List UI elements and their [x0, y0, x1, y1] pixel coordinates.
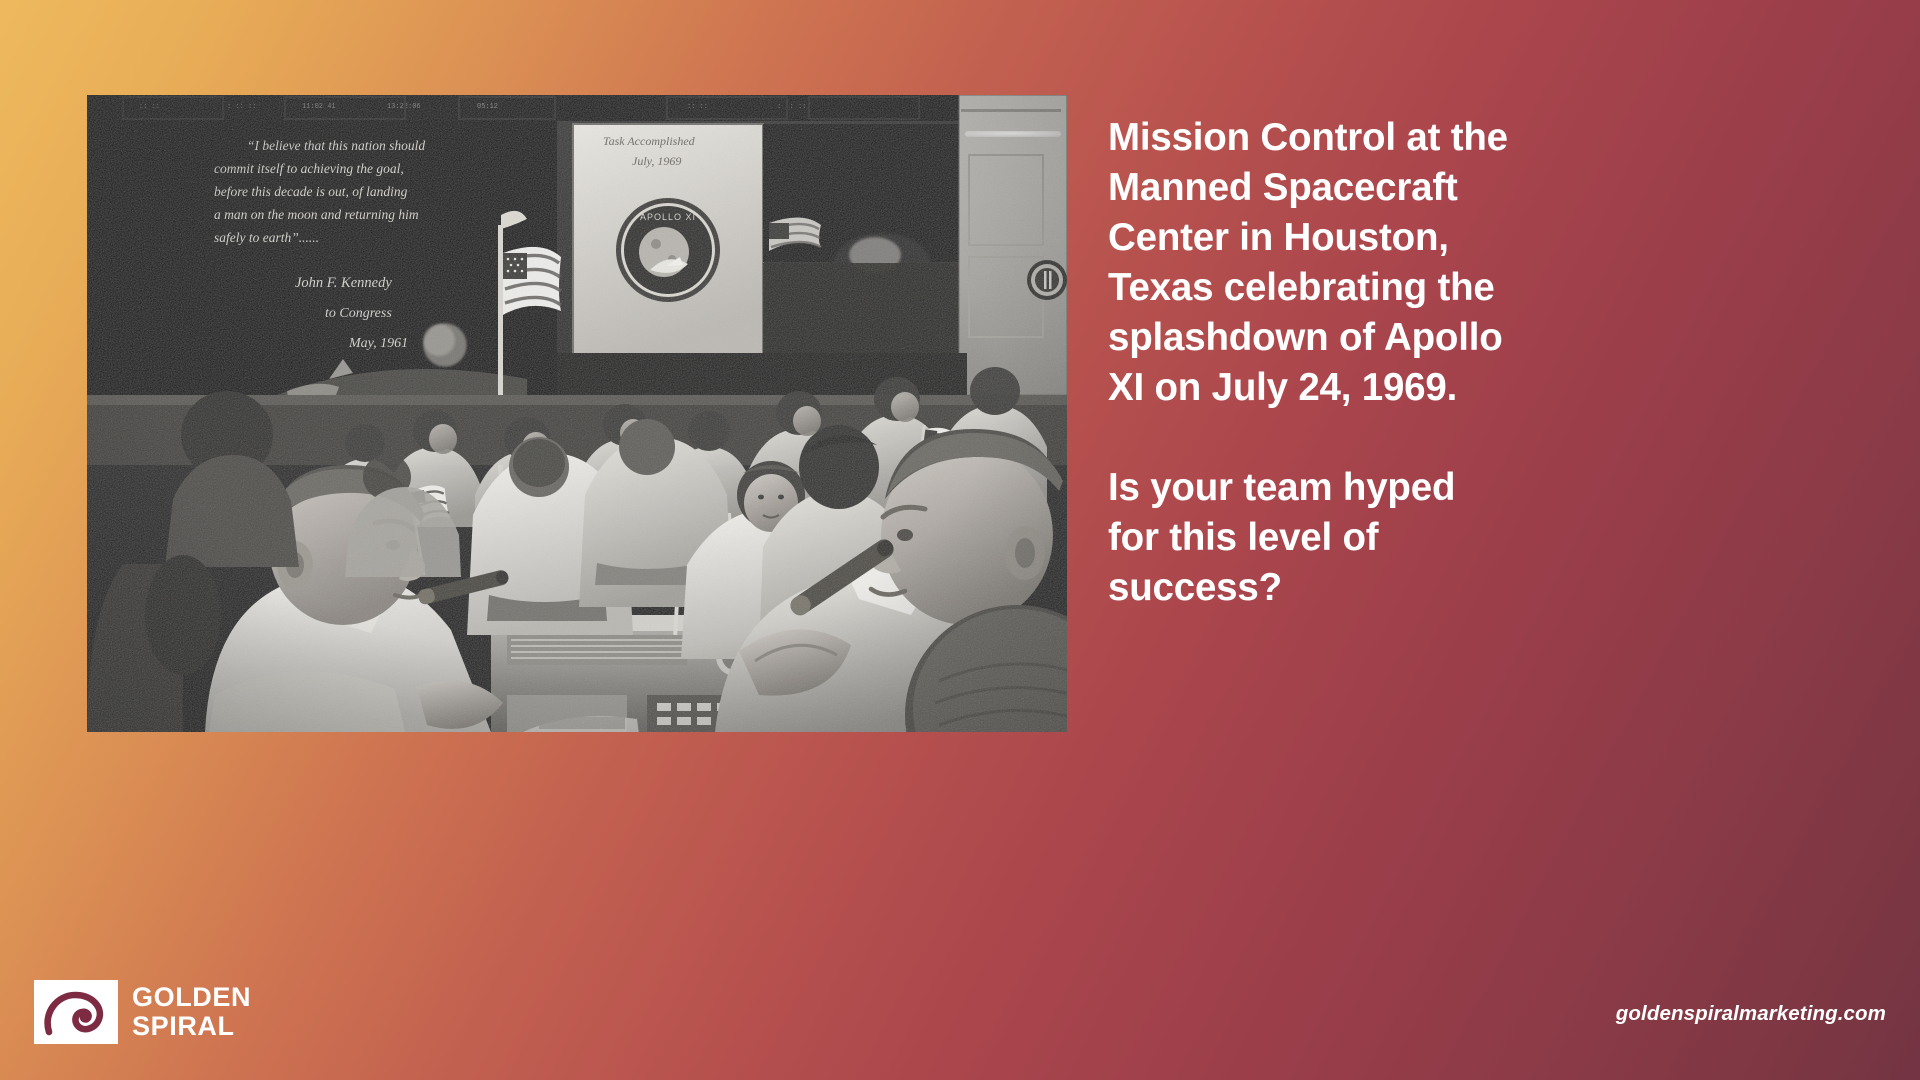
golden-spiral-wordmark: GOLDEN SPIRAL: [132, 983, 251, 1041]
golden-spiral-logo[interactable]: GOLDEN SPIRAL: [34, 980, 251, 1044]
caption-block: Mission Control at the Manned Spacecraft…: [1108, 113, 1508, 613]
mission-control-photo-illustration: :: :: : :: :: 11:02 41 13:22:06 05:12 ::…: [87, 95, 1067, 732]
golden-spiral-mark-icon: [34, 980, 118, 1044]
mission-control-photo: :: :: : :: :: 11:02 41 13:22:06 05:12 ::…: [87, 95, 1067, 732]
logo-word-line-1: GOLDEN: [132, 983, 251, 1012]
caption-paragraph-cta: Is your team hyped for this level of suc…: [1108, 463, 1508, 613]
website-url[interactable]: goldenspiralmarketing.com: [1616, 1002, 1886, 1026]
slide-canvas: :: :: : :: :: 11:02 41 13:22:06 05:12 ::…: [0, 0, 1920, 1080]
spiral-icon: [41, 987, 111, 1037]
logo-word-line-2: SPIRAL: [132, 1012, 251, 1041]
caption-paragraph-primary: Mission Control at the Manned Spacecraft…: [1108, 113, 1508, 413]
